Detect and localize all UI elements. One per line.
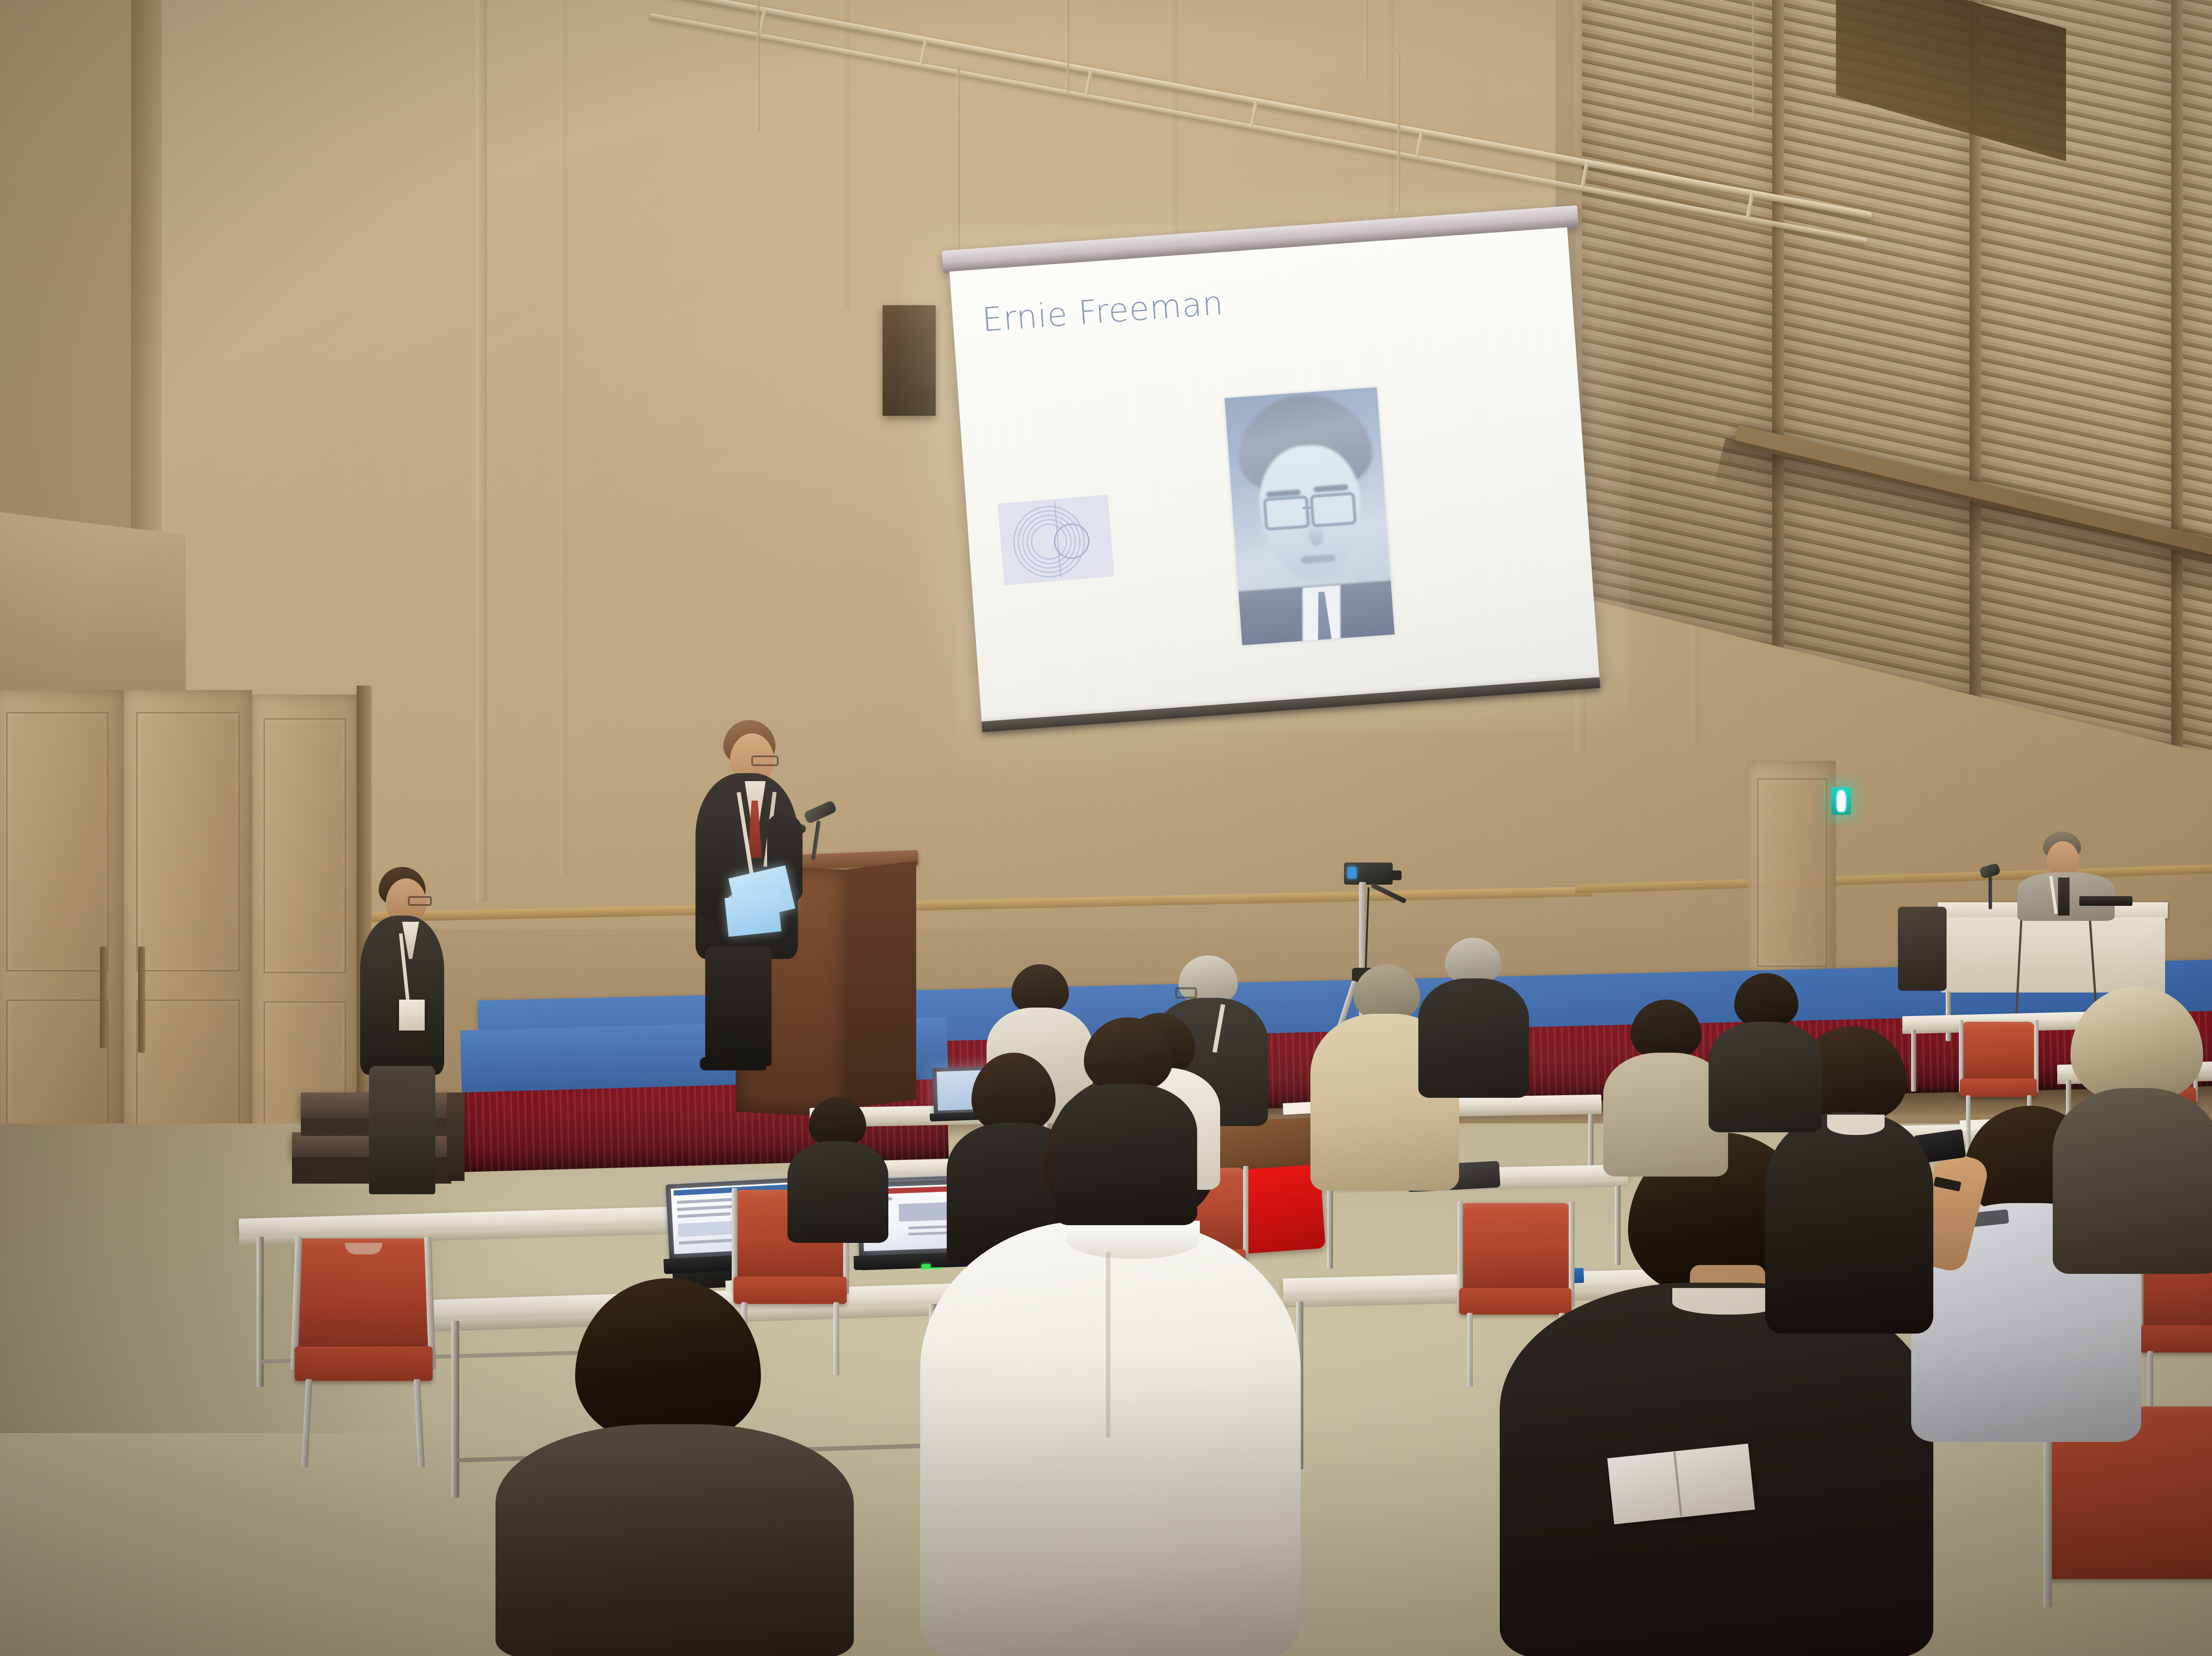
door-panel-upper [264,718,346,973]
screen-hanger-rod-left [956,66,960,274]
table-leg [1327,1189,1333,1269]
person-hair [1084,1017,1172,1092]
slide-title: Ernie Freeman [981,284,1225,339]
ceiling-hanger-rod-b [1066,0,1069,93]
door-handle[interactable] [138,947,145,1053]
audience-person-d [1416,938,1531,1097]
audience-person-left-mid-3 [1708,973,1823,1132]
audience-person-blonde [2044,986,2212,1278]
door-left-1[interactable] [0,690,124,1185]
attendant-legs [369,1066,435,1194]
presenter-notes-second [725,893,782,937]
session-table-laptop[interactable] [2079,896,2132,906]
wall-speaker-box [883,305,936,416]
presenter-legs [705,947,772,1066]
person-hair [2070,986,2203,1101]
chair-seat [295,1346,433,1381]
chair-back [296,1238,429,1349]
person-collar-white [1827,1115,1885,1135]
person-hair [1445,938,1502,984]
table-leg [257,1237,264,1387]
projection-screen: Ernie Freeman [949,221,1606,751]
ceiling-hanger-rod-a [757,0,760,133]
chair-leg [301,1379,312,1468]
camera-lens [1388,870,1402,880]
session-table-microphone [1989,876,1992,909]
emergency-exit-sign-left [1832,787,1851,815]
shirt-collar [1067,1221,1200,1259]
podium-side [845,861,916,1108]
ceiling-hanger-rod-c [1365,0,1368,80]
chair-person-tie [2058,878,2070,916]
chair-back [1961,1022,2035,1080]
chair-leg [414,1379,425,1468]
presenter-shoes [700,1057,766,1070]
person-hair [1631,1000,1701,1059]
table-leg [451,1321,459,1498]
person-glasses [1175,987,1197,999]
ceiling-hanger-rod-d [1752,0,1755,119]
door-handle[interactable] [100,947,107,1048]
person-hair [1011,964,1069,1014]
conference-hall-photograph: Ernie Freeman [0,0,2212,1656]
screen-hanger-rod-right [1397,53,1400,212]
standing-attendant [354,867,451,1203]
person-torso [1418,978,1529,1098]
audience-person-mid-small [787,1097,889,1243]
person-torso [1055,1084,1197,1225]
person-torso [1709,1022,1822,1132]
shirt-seam [1106,1252,1110,1437]
person-hair [1734,973,1798,1027]
person-hair [575,1278,761,1442]
chair-back-handle [345,1243,382,1254]
tripod-pan-handle[interactable] [1371,883,1407,904]
door-panel-upper [6,712,108,971]
slide-portrait [1225,387,1394,645]
door-panel [1757,778,1827,967]
wall-left-soffit [0,509,186,721]
attendant-glasses [408,896,432,906]
camera-lcd-screen [1348,867,1356,878]
presenter-glasses [751,755,779,766]
door-panel-upper [136,712,240,971]
session-chair-table-front [1941,917,2165,993]
person-torso [920,1221,1301,1656]
attendant-badge [399,1000,425,1031]
person-torso [1765,1112,1933,1334]
door-left-2[interactable] [124,690,252,1194]
slide-logo [998,494,1114,585]
person-torso [787,1141,888,1243]
chair-empty-left[interactable] [283,1238,451,1468]
presenter-at-podium [677,717,823,1070]
screen-surface: Ernie Freeman [949,227,1599,721]
person-torso [495,1424,854,1656]
person-torso [2053,1088,2212,1274]
person-hair [1354,964,1420,1020]
session-table-chair[interactable] [1898,907,1947,991]
chair-seat [2139,1325,2212,1353]
chair-leg [1467,1313,1473,1387]
person-hair [809,1097,866,1146]
audience-person-foreground-left [495,1278,858,1656]
chair-foreground-right[interactable] [2035,1407,2212,1656]
audience-person-behind [1053,1017,1199,1225]
